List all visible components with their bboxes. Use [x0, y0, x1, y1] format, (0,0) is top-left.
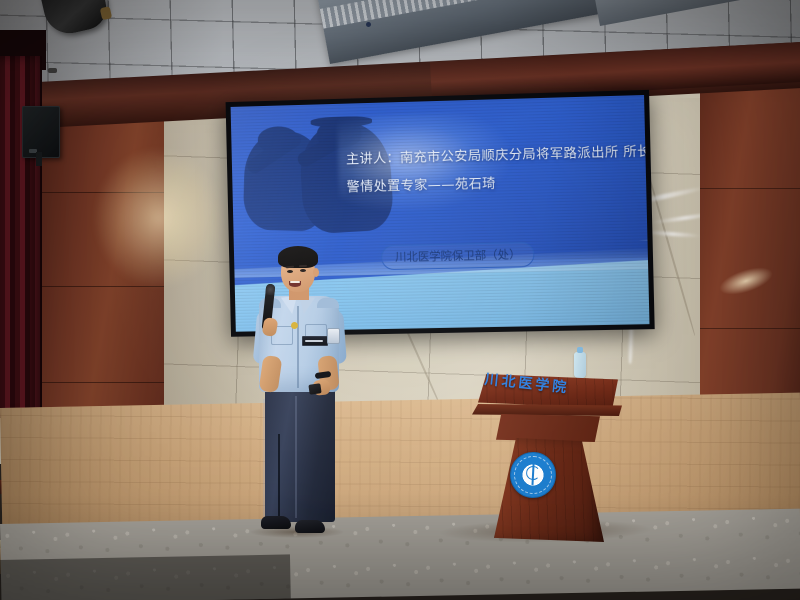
presenter-shoe-right — [295, 520, 325, 533]
presenter-eyebrow-right — [299, 265, 307, 267]
trouser-leg-split — [278, 434, 280, 522]
wall-light-glow — [94, 148, 224, 288]
presenter-trousers — [265, 386, 335, 522]
trouser-crease-left — [263, 399, 265, 519]
presentation-clicker-icon — [308, 383, 321, 395]
uniform-insignia-icon — [291, 322, 298, 329]
lecture-hall-photo: 主讲人：南充市公安局顺庆分局将军路派出所 所长 警情处置专家——苑石琦 川北医学… — [0, 0, 800, 600]
presenter-hair — [278, 246, 318, 268]
presenter-eye-left — [287, 270, 293, 273]
presenter-ear — [313, 268, 319, 277]
slide-text-block: 主讲人：南充市公安局顺庆分局将军路派出所 所长 警情处置专家——苑石琦 — [346, 146, 634, 196]
uniform-shoulder-patch-icon — [327, 328, 340, 344]
uniform-button-placket — [297, 306, 299, 388]
slide-organizer-pill: 川北医学院保卫部（处） — [381, 242, 535, 270]
terrazzo-shadow — [0, 554, 291, 600]
presenter-mouth — [289, 281, 301, 287]
presenter-eye-right — [300, 269, 306, 272]
lectern-podium[interactable]: 川北医学院 — [466, 374, 626, 542]
emblem-ring — [513, 455, 553, 495]
speaker-mount-bracket — [36, 152, 42, 166]
presenter-shoe-left — [261, 516, 291, 529]
water-bottle-icon — [574, 352, 586, 378]
podium-neck — [496, 414, 600, 442]
trouser-crease-right — [295, 396, 297, 518]
presenter-police-officer — [243, 244, 351, 540]
uniform-name-badge — [302, 336, 328, 346]
wall-speaker-icon — [22, 106, 60, 158]
presenter-shoulder-right — [317, 298, 339, 308]
podium-lip — [472, 404, 622, 416]
